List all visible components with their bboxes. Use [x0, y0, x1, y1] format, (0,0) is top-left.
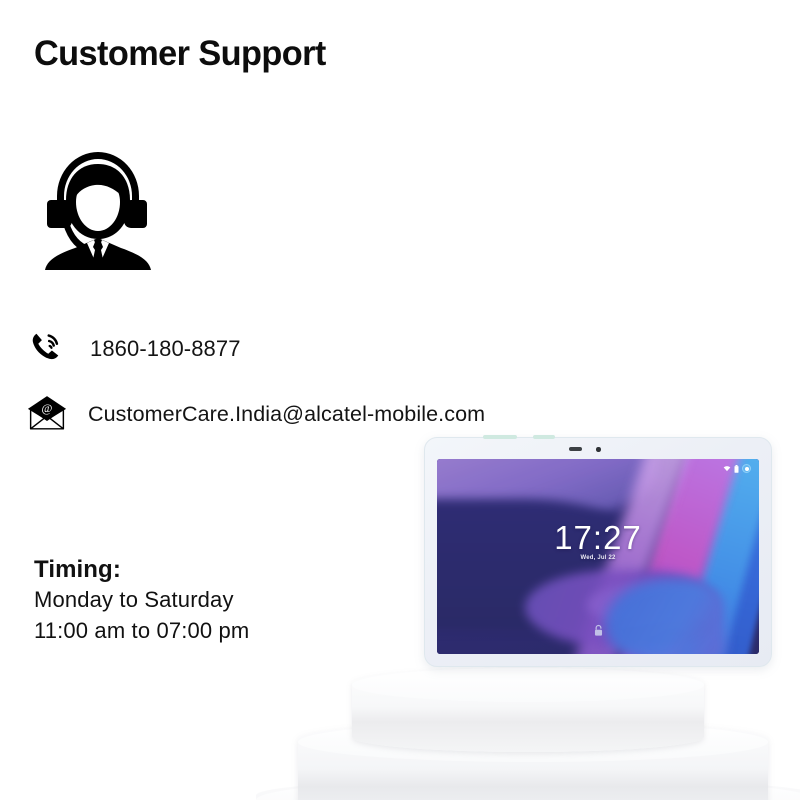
- phone-number: 1860-180-8877: [90, 336, 241, 362]
- page-title: Customer Support: [34, 34, 326, 74]
- speaker-slot: [569, 447, 582, 451]
- front-camera-icon: [596, 447, 601, 452]
- contact-row-email[interactable]: @ CustomerCare.India@alcatel-mobile.com: [26, 392, 485, 437]
- contact-row-phone[interactable]: 1860-180-8877: [26, 326, 241, 371]
- timing-label: Timing:: [34, 554, 249, 585]
- status-bar: [723, 464, 751, 473]
- wifi-icon: [723, 465, 731, 472]
- tablet-device: 17:27 Wed, Jul 22: [424, 437, 772, 667]
- email-address: CustomerCare.India@alcatel-mobile.com: [88, 402, 485, 427]
- volume-button[interactable]: [533, 435, 555, 439]
- lock-screen-clock: 17:27: [437, 519, 759, 557]
- tablet-screen[interactable]: 17:27 Wed, Jul 22: [437, 459, 759, 654]
- user-avatar-icon[interactable]: [742, 464, 751, 473]
- customer-support-page: Customer Support: [0, 0, 800, 800]
- phone-ringing-icon: [26, 326, 66, 371]
- timing-days: Monday to Saturday: [34, 585, 249, 615]
- power-button[interactable]: [483, 435, 517, 439]
- lock-icon[interactable]: [437, 624, 759, 642]
- svg-text:@: @: [42, 401, 53, 415]
- lock-screen-date: Wed, Jul 22: [437, 555, 759, 561]
- support-agent-headset-icon: [35, 138, 160, 270]
- podium-tier-top-top: [352, 668, 704, 702]
- battery-icon: [734, 465, 739, 473]
- email-envelope-at-icon: @: [26, 392, 68, 437]
